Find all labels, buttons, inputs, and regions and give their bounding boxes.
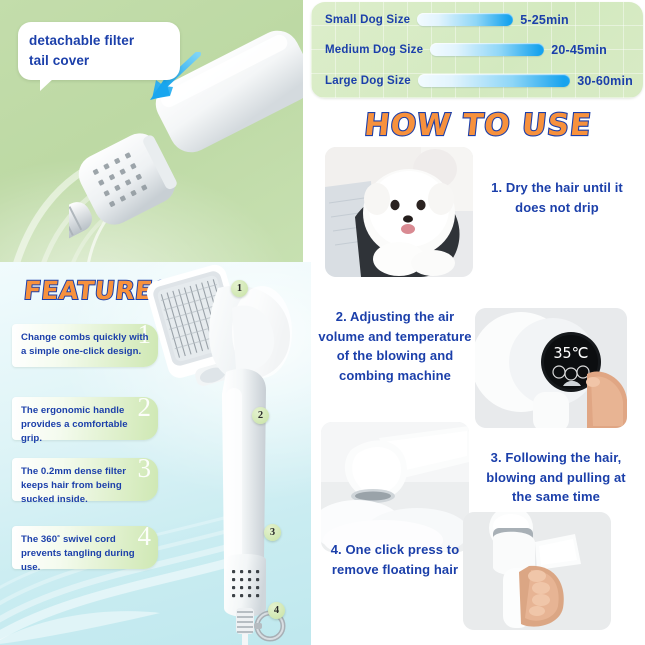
- feature-card: 3 The 0.2mm dense filter keeps hair from…: [12, 458, 158, 501]
- detachable-filter-hero-panel: detachable filter tail cover: [0, 0, 303, 262]
- size-time: 20-45min: [551, 43, 607, 57]
- how-to-use-section: HOW TO USE: [311, 100, 645, 645]
- callout-badge-2: 2: [252, 407, 269, 424]
- product-infographic: detachable filter tail cover Small Dog S…: [0, 0, 645, 645]
- size-time: 5-25min: [520, 13, 569, 27]
- step-4-image: [463, 512, 611, 630]
- size-row: Medium Dog Size 20-45min: [325, 41, 633, 58]
- callout-line-1: detachable filter: [29, 31, 169, 51]
- size-label: Medium Dog Size: [325, 44, 423, 56]
- detachable-filter-callout-bubble: detachable filter tail cover: [18, 22, 180, 80]
- callout-badge-4: 4: [268, 602, 285, 619]
- size-label: Small Dog Size: [325, 14, 410, 26]
- size-row: Small Dog Size 5-25min: [325, 11, 633, 28]
- size-progress-bar: [418, 74, 570, 87]
- callout-badge-3: 3: [264, 524, 281, 541]
- how-to-use-title: HOW TO USE: [309, 108, 645, 143]
- svg-text:35℃: 35℃: [554, 344, 589, 362]
- step-1-image: [325, 147, 473, 277]
- feature-card: 1 Change combs quickly with a simple one…: [12, 324, 158, 367]
- features-section: FEATURES: [0, 262, 311, 645]
- callout-badge-1: 1: [231, 280, 248, 297]
- size-row: Large Dog Size 30-60min: [325, 72, 633, 89]
- step-2-text: 2. Adjusting the air volume and temperat…: [315, 307, 475, 385]
- step-2-image: 35℃: [475, 308, 627, 428]
- dog-size-drying-time-chart: Small Dog Size 5-25min Medium Dog Size 2…: [311, 2, 643, 98]
- size-time: 30-60min: [577, 74, 633, 88]
- pet-hair-dryer-product-photo: [140, 262, 311, 645]
- step-3-text: 3. Following the hair, blowing and pulli…: [477, 448, 635, 507]
- feature-text: The 360˚ swivel cord prevents tangling d…: [21, 533, 150, 576]
- feature-text: The ergonomic handle provides a comforta…: [21, 404, 150, 447]
- step-1-text: 1. Dry the hair until it does not drip: [481, 178, 633, 217]
- feature-card: 4 The 360˚ swivel cord prevents tangling…: [12, 526, 158, 569]
- size-progress-bar: [430, 43, 544, 56]
- step-3-image: [321, 422, 469, 552]
- size-progress-bar: [417, 13, 513, 26]
- feature-text: Change combs quickly with a simple one-c…: [21, 331, 150, 359]
- feature-card: 2 The ergonomic handle provides a comfor…: [12, 397, 158, 440]
- size-label: Large Dog Size: [325, 75, 411, 87]
- callout-line-2: tail cover: [29, 51, 169, 71]
- step-4-text: 4. One click press to remove floating ha…: [319, 540, 471, 579]
- feature-text: The 0.2mm dense filter keeps hair from b…: [21, 465, 150, 508]
